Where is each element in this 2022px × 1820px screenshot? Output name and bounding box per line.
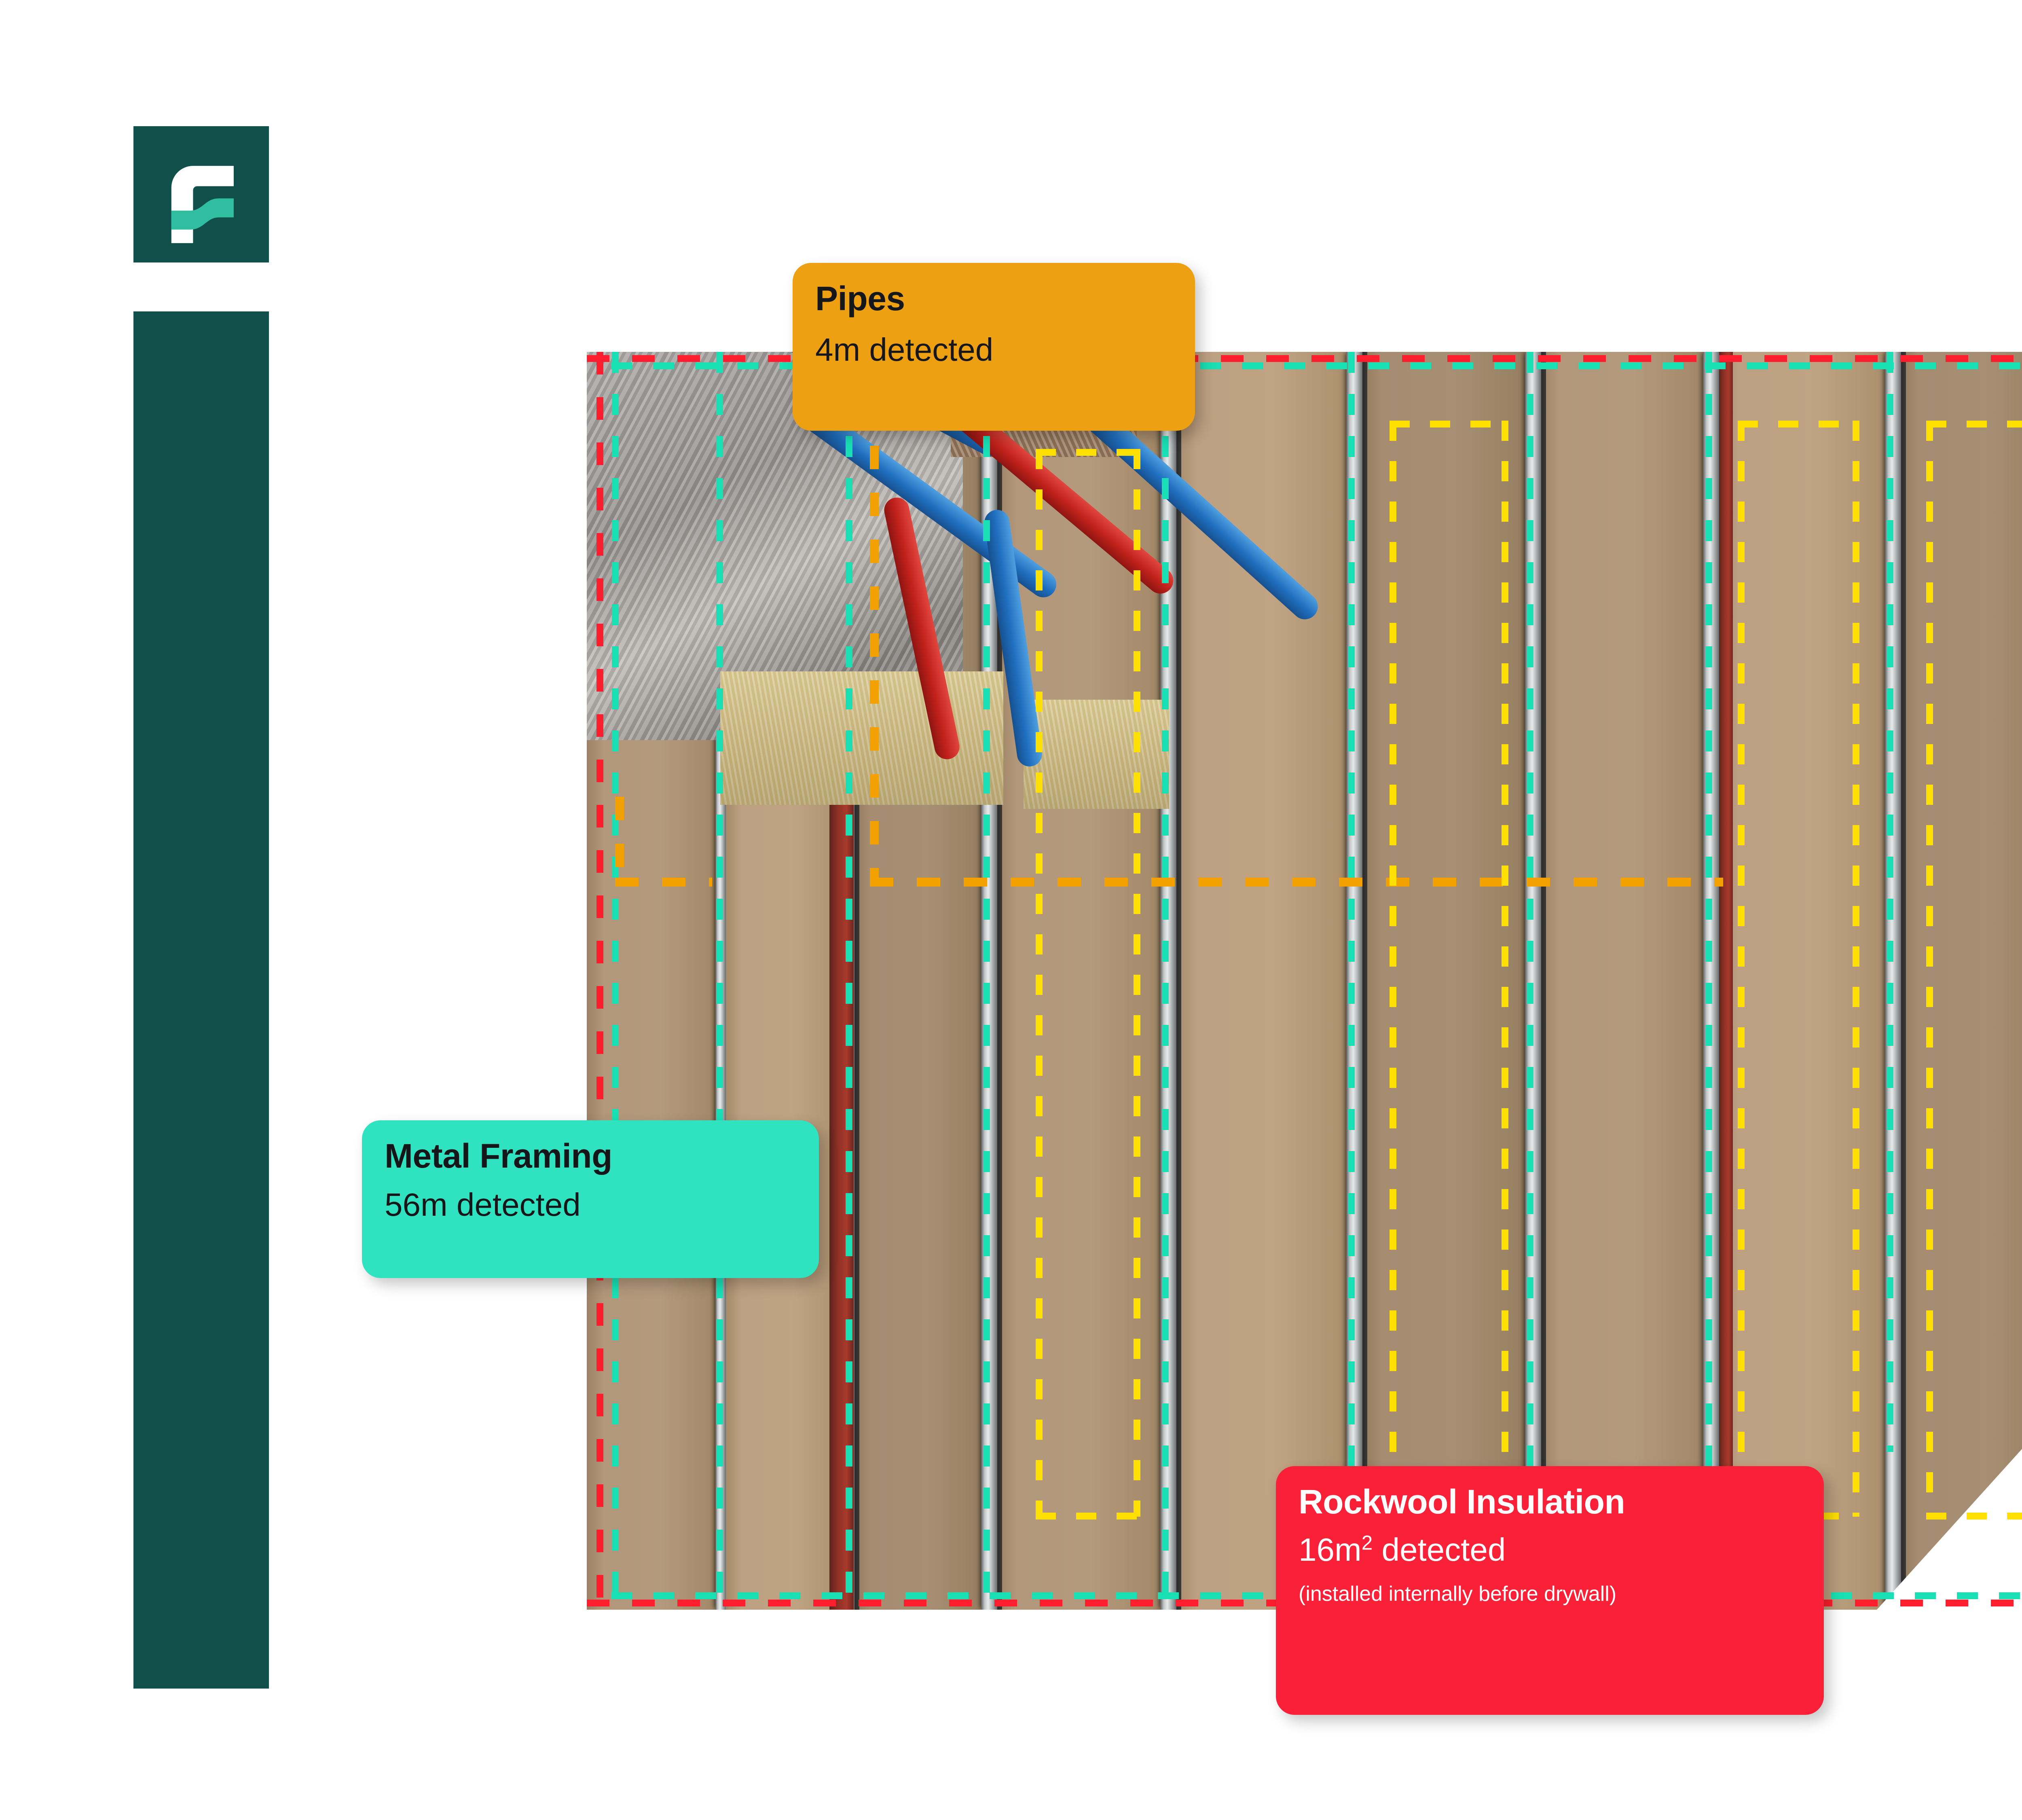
stud-shadow	[1541, 352, 1546, 1610]
metal-stud	[1525, 352, 1541, 1610]
badge-rockwool-note: (installed internally before drywall)	[1299, 1582, 1760, 1606]
red-edge-column	[1719, 352, 1733, 1610]
drywall-strip	[1361, 352, 1531, 1610]
badge-framing-title: Metal Framing	[385, 1138, 796, 1174]
badge-rockwool-value: 16m2 detected	[1299, 1532, 1801, 1568]
metal-stud	[1346, 352, 1362, 1610]
stud-shadow	[1362, 352, 1367, 1610]
brand-logo[interactable]	[133, 126, 269, 262]
badge-pipes-value: 4m detected	[815, 332, 1172, 368]
metal-stud	[1885, 352, 1901, 1610]
drywall-strip	[995, 352, 1167, 1610]
badge-pipes[interactable]: Pipes 4m detected	[793, 263, 1195, 431]
construction-wall-photo[interactable]	[587, 352, 2022, 1610]
badge-pipes-title: Pipes	[815, 281, 1172, 316]
metal-stud	[1160, 352, 1176, 1610]
badge-framing-value: 56m detected	[385, 1187, 796, 1223]
metal-stud	[1703, 352, 1719, 1610]
superscript-two: 2	[1362, 1532, 1373, 1554]
photo-content	[587, 352, 2022, 1610]
page-root: Pipes 4m detected Drywall Panels 16m2 de…	[0, 0, 2022, 1820]
badge-rockwool-insulation[interactable]: Rockwool Insulation 16m2 detected (insta…	[1276, 1466, 1824, 1715]
badge-metal-framing[interactable]: Metal Framing 56m detected	[362, 1120, 819, 1278]
sidebar-accent-bar	[133, 311, 269, 1689]
badge-rockwool-title: Rockwool Insulation	[1299, 1484, 1801, 1519]
drywall-strip	[1175, 352, 1353, 1610]
drywall-strip	[1539, 352, 1709, 1610]
rockwool-insulation	[1024, 700, 1169, 809]
rockwool-insulation	[720, 671, 1003, 805]
drywall-strip	[1717, 352, 1891, 1610]
stud-shadow	[1901, 352, 1906, 1610]
drywall-strip	[1899, 352, 2022, 1610]
stud-shadow	[1176, 352, 1181, 1610]
f-logo-icon	[133, 126, 269, 262]
